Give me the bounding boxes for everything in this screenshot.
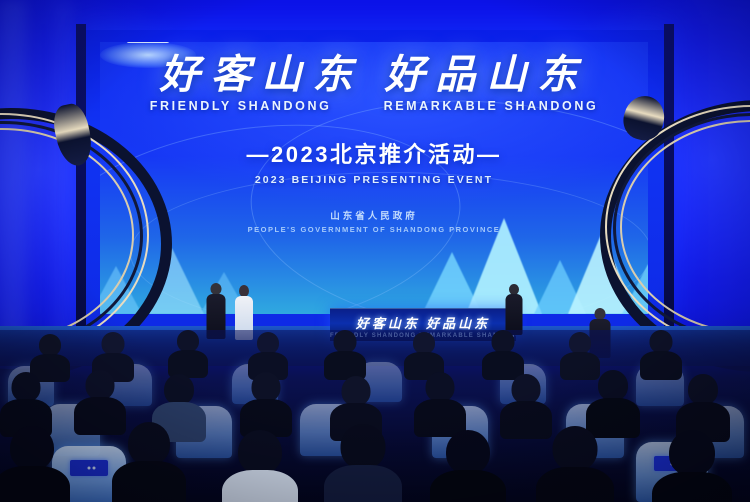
head (598, 370, 628, 401)
head (39, 334, 61, 356)
attendee (676, 374, 730, 438)
head (12, 372, 41, 402)
attendee (640, 330, 682, 378)
subtitle-english: 2023 BEIJING PRESENTING EVENT (100, 174, 648, 186)
head (446, 430, 490, 474)
attendee (430, 430, 506, 502)
torso (506, 294, 523, 335)
head (650, 330, 673, 353)
organizer-chinese: 山东省人民政府 (100, 208, 648, 222)
attendee (324, 330, 366, 378)
headline-chinese: 好客山东 好品山东 (100, 52, 648, 98)
head (10, 426, 54, 470)
head (252, 372, 281, 402)
head (238, 430, 282, 474)
shoulders (430, 470, 506, 502)
head (177, 330, 199, 352)
headline-english-right: REMARKABLE SHANDONG (384, 99, 599, 113)
head (342, 376, 371, 406)
head (341, 424, 386, 469)
head (553, 426, 598, 471)
shoulders (324, 465, 402, 502)
head (426, 372, 455, 402)
head (128, 422, 170, 465)
shoulders (222, 470, 298, 502)
organizer-english: PEOPLE'S GOVERNMENT OF SHANDONG PROVINCE (100, 225, 648, 234)
chair-placard (70, 460, 108, 476)
head (102, 332, 125, 355)
head (492, 330, 515, 353)
head (688, 374, 718, 405)
attendee (324, 424, 402, 502)
shoulders (652, 472, 732, 502)
shoulders (0, 466, 70, 502)
placard-dots-icon (88, 467, 91, 470)
audience-area (0, 330, 750, 502)
attendee (652, 430, 732, 502)
attendee (414, 372, 466, 434)
shoulders (112, 461, 186, 502)
subtitle-chinese: —2023北京推介活动— (100, 137, 648, 169)
attendee (586, 370, 640, 434)
attendee (112, 422, 186, 502)
attendee (240, 372, 292, 434)
attendee (168, 330, 208, 376)
head (512, 374, 541, 404)
stage-person-presenter (504, 284, 524, 334)
headline-english: FRIENDLY SHANDONG REMARKABLE SHANDONG (100, 99, 648, 113)
headline-english-left: FRIENDLY SHANDONG (150, 99, 332, 113)
attendee (0, 426, 70, 502)
attendee (0, 372, 52, 434)
head (413, 332, 435, 354)
head (669, 430, 715, 476)
head (569, 332, 591, 354)
screen-text-block: 好客山东 好品山东 FRIENDLY SHANDONG REMARKABLE S… (100, 52, 648, 234)
attendee (222, 430, 298, 502)
attendee (536, 426, 614, 502)
attendee (482, 330, 524, 378)
shoulders (536, 467, 614, 502)
head (334, 330, 357, 353)
head (257, 332, 279, 354)
head (164, 374, 194, 405)
head (86, 370, 115, 400)
event-stage-photo: 好客山东 好品山东 FRIENDLY SHANDONG REMARKABLE S… (0, 0, 750, 502)
